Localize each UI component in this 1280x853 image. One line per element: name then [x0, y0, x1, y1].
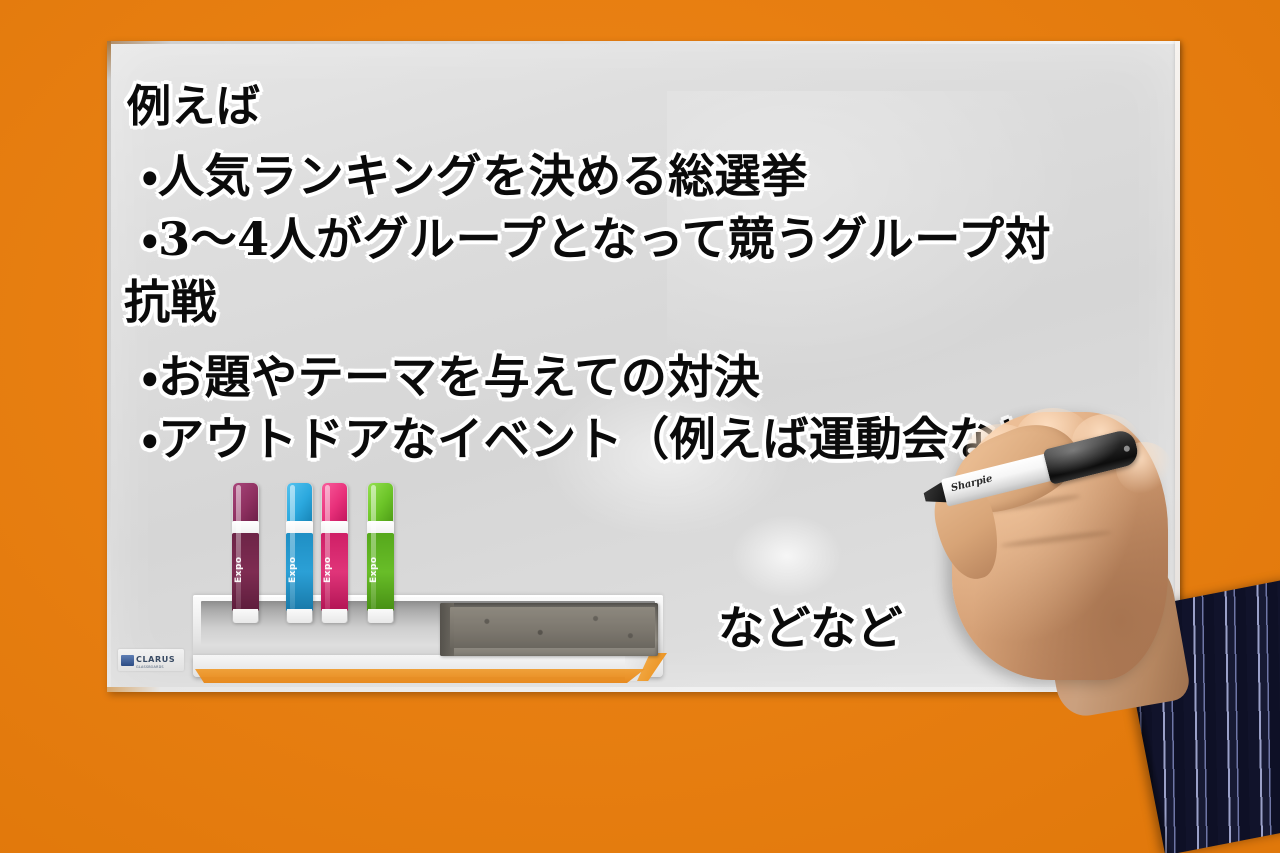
hand-layer: Sharpie [0, 0, 1280, 853]
slide-stage: CLARUS GLASSBOARDS Expo Expo Expo [0, 0, 1280, 853]
marker-cap-highlight [1123, 445, 1130, 452]
